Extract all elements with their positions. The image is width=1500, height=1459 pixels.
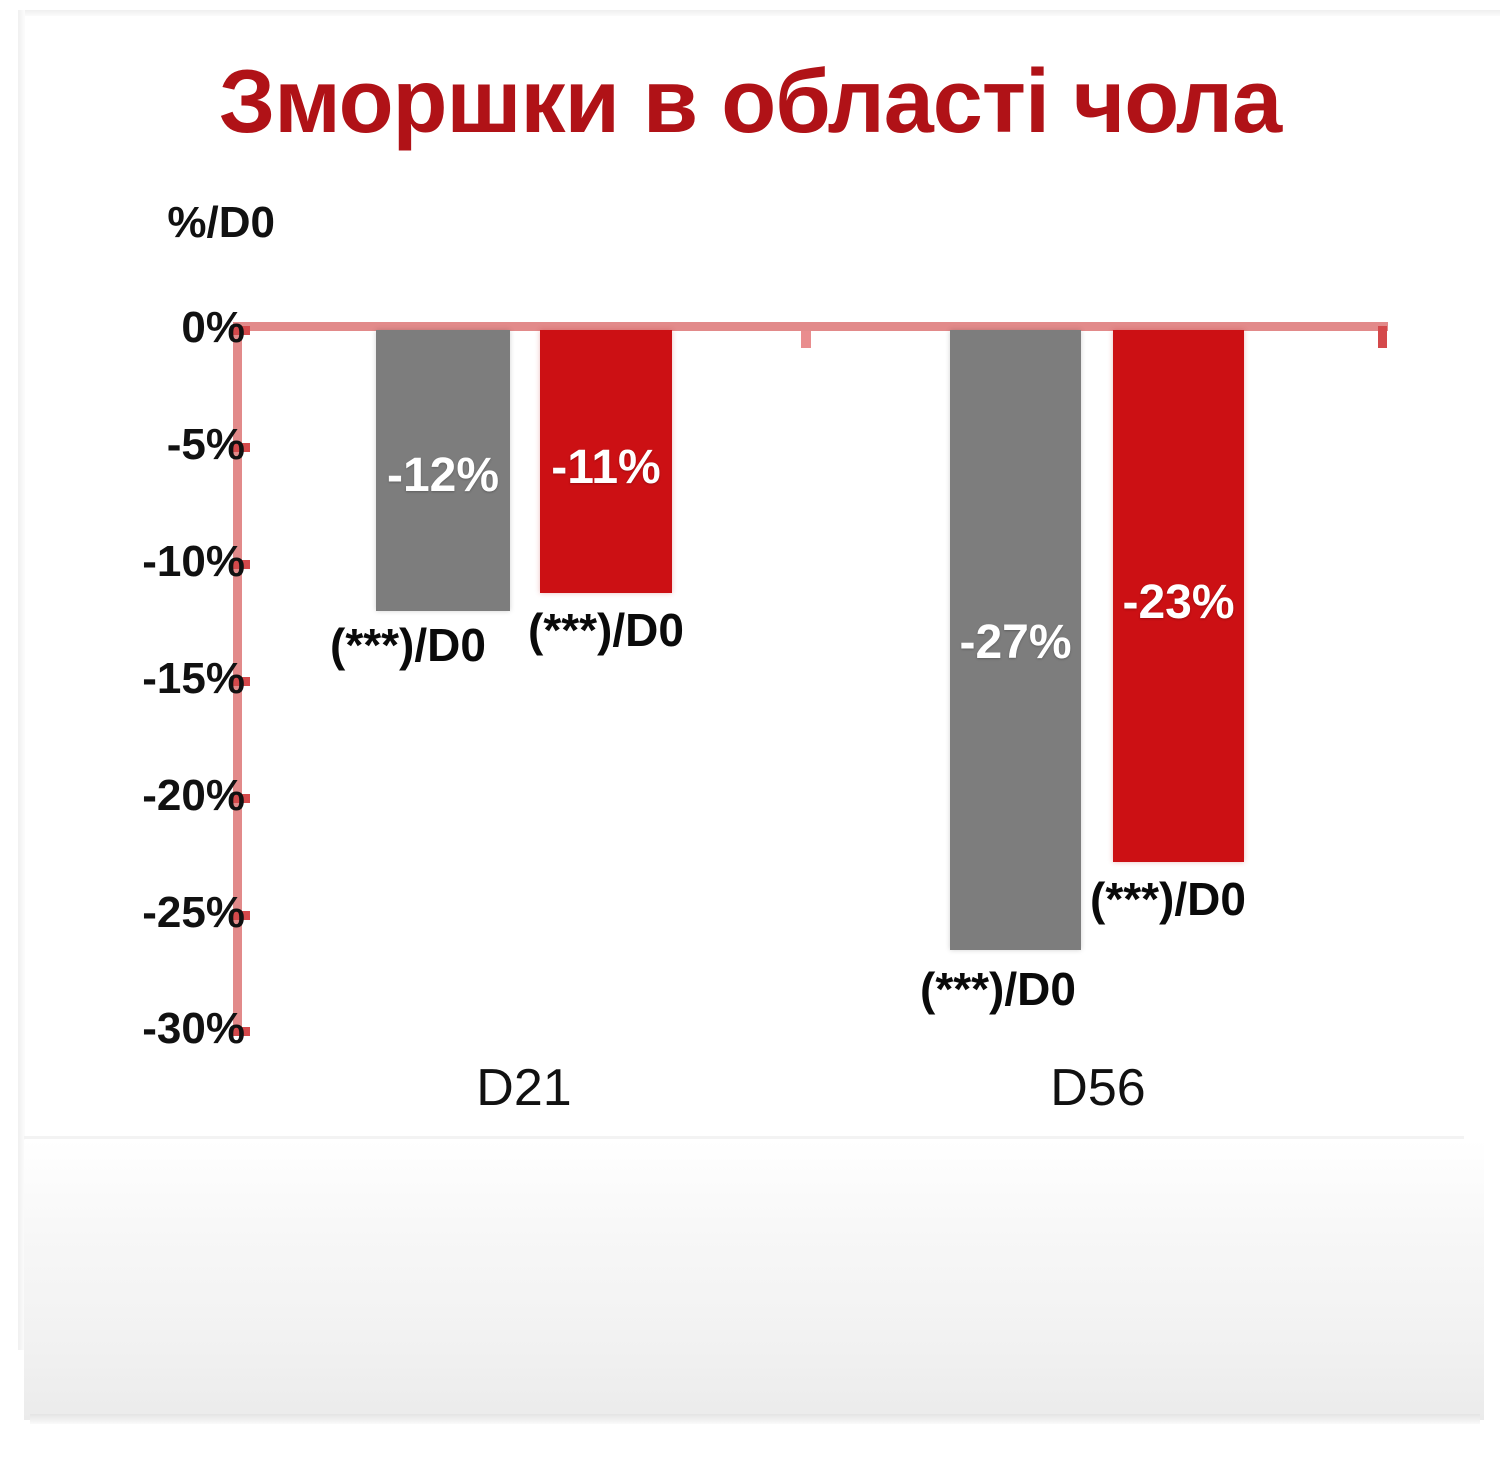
significance-label-d21-red: (***)/D0 (528, 603, 684, 657)
axis-mid-tick-icon (801, 331, 811, 348)
bar-d56-gray[interactable]: -27% (950, 330, 1081, 950)
chart-plot-area: %/D0 0% -5% -10% -15% -20% -25% -30% -12… (0, 0, 1500, 1160)
y-axis-title: %/D0 (95, 198, 275, 248)
significance-label-d56-gray: (***)/D0 (920, 962, 1076, 1016)
bar-d21-red[interactable]: -11% (540, 330, 672, 593)
x-category-label-d21: D21 (394, 1058, 654, 1118)
bar-value-label-d56-gray: -27% (950, 615, 1081, 670)
y-tick-label-2: -10% (65, 537, 245, 587)
y-tick-label-5: -25% (65, 888, 245, 938)
y-tick-label-0: 0% (65, 303, 245, 353)
bar-value-label-d21-red: -11% (540, 440, 672, 495)
bar-d56-red[interactable]: -23% (1113, 330, 1244, 862)
bar-d21-gray[interactable]: -12% (376, 330, 510, 611)
y-tick-label-6: -30% (65, 1004, 245, 1054)
bar-value-label-d21-gray: -12% (376, 448, 510, 503)
y-tick-label-4: -20% (65, 771, 245, 821)
y-tick-label-3: -15% (65, 654, 245, 704)
slide-footer-area (24, 1140, 1484, 1420)
axis-end-tick-icon (1378, 326, 1387, 348)
significance-label-d21-gray: (***)/D0 (330, 618, 486, 672)
x-category-label-d56: D56 (968, 1058, 1228, 1118)
slide-bottom-shadow (30, 1414, 1480, 1424)
slide-canvas: Зморшки в області чола %/D0 0% -5% -10% … (0, 0, 1500, 1459)
y-tick-label-1: -5% (65, 420, 245, 470)
bar-value-label-d56-red: -23% (1113, 575, 1244, 630)
significance-label-d56-red: (***)/D0 (1090, 872, 1246, 926)
